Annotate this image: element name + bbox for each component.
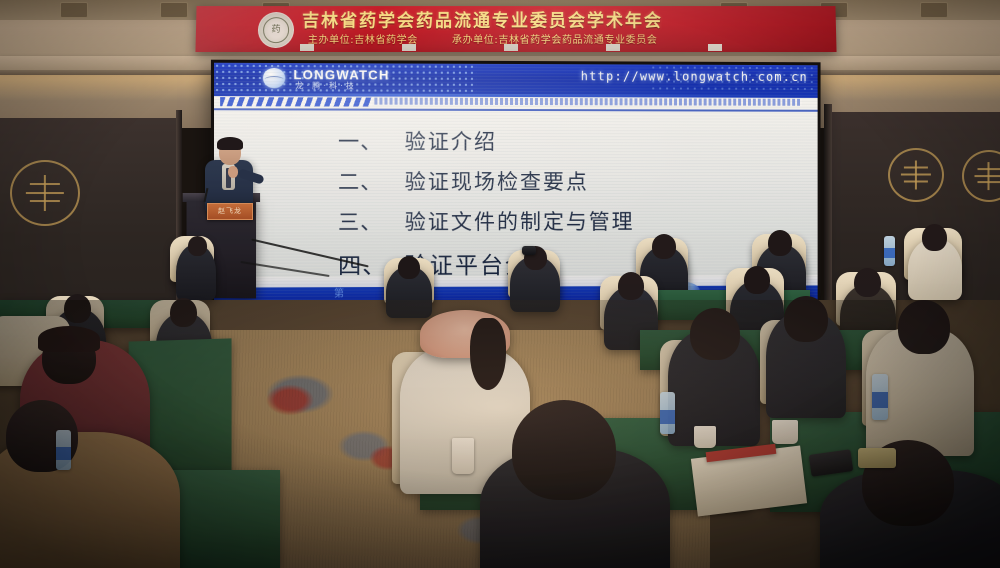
agenda-text: 验证介绍	[405, 126, 497, 156]
water-bottle	[660, 392, 675, 434]
wall-medallion-icon	[10, 160, 80, 226]
phone	[522, 246, 536, 255]
header-hatch-stripe	[374, 98, 802, 106]
attendee-head	[170, 298, 197, 327]
attendee-head	[784, 296, 828, 342]
water-bottle	[56, 430, 71, 470]
attendee-head	[898, 300, 950, 354]
attendee-head	[690, 308, 740, 360]
agenda-number: 三、	[338, 206, 405, 236]
slide-header-bar: LONGWATCH 龙·腾·科·技 http://www.longwatch.c…	[214, 63, 818, 95]
attendee-head	[744, 266, 770, 294]
association-seal-icon: 药	[258, 12, 295, 48]
banner-co-organizer: 承办单位:吉林省药学会药品流通专业委员会	[452, 34, 658, 48]
attendee-head	[398, 256, 420, 279]
nameplate-text: 赵飞龙	[208, 204, 252, 219]
agenda-number: 二、	[338, 166, 405, 196]
agenda-text: 验证现场检查要点	[405, 166, 589, 196]
slide-footer-text: 第	[334, 285, 344, 300]
banner-main-title: 吉林省药学会药品流通专业委员会学术年会	[302, 10, 818, 33]
longwatch-globe-icon	[263, 68, 285, 88]
attendee-head	[922, 224, 947, 251]
attendee-cap	[38, 326, 100, 352]
banner-subtitle: 主办单位:吉林省药学会 承办单位:吉林省药学会药品流通专业委员会	[308, 34, 817, 48]
header-chevron-stripe	[220, 97, 372, 106]
brand-name-cn: 龙·腾·科·技	[295, 80, 356, 91]
power-bank	[858, 448, 896, 468]
paper-cup	[694, 426, 716, 448]
paper-cup	[772, 420, 798, 444]
agenda-item: 三、 验证文件的制定与管理	[338, 206, 786, 237]
wall-medallion-icon	[888, 148, 944, 202]
attendee-hair	[470, 318, 506, 390]
agenda-text: 验证文件的制定与管理	[405, 206, 635, 236]
conference-photo: 药 吉林省药学会药品流通专业委员会学术年会 主办单位:吉林省药学会 承办单位:吉…	[0, 0, 1000, 568]
attendee-head	[512, 400, 616, 500]
agenda-item: 二、 验证现场检查要点	[338, 166, 786, 196]
water-bottle	[872, 374, 888, 420]
attendee-head	[618, 272, 644, 300]
podium-nameplate: 赵飞龙	[207, 203, 253, 220]
speaker-hair	[217, 137, 243, 150]
water-bottle	[884, 236, 895, 266]
attendee-head	[854, 268, 881, 297]
company-url: http://www.longwatch.com.cn	[581, 69, 808, 84]
speaker-hand	[228, 166, 238, 178]
agenda-number: 一、	[338, 126, 405, 156]
attendee-head	[768, 230, 792, 256]
header-underline	[214, 108, 818, 112]
attendee-head	[652, 234, 676, 259]
agenda-item: 一、 验证介绍	[338, 126, 786, 157]
paper-cup	[452, 438, 474, 474]
seal-char: 药	[263, 17, 289, 43]
attendee-head	[188, 236, 207, 256]
attendee-head	[64, 294, 91, 323]
